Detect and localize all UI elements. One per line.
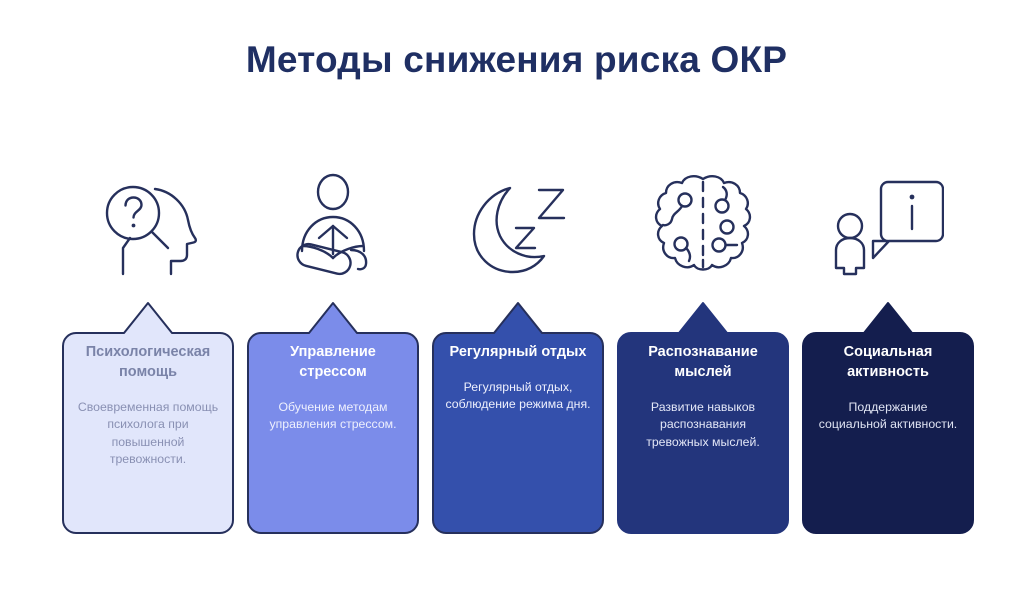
- card-title: Социальная активность: [814, 342, 962, 382]
- card-title: Распознавание мыслей: [629, 342, 777, 382]
- card-stress-management[interactable]: Управление стрессом Обучение методам упр…: [247, 300, 419, 536]
- brain-circuit-icon: [617, 160, 789, 288]
- card-social-activity[interactable]: Социальная активность Поддержание социал…: [802, 300, 974, 536]
- card-description: Развитие навыков распознавания тревожных…: [629, 399, 777, 451]
- card-description: Обучение методам управления стрессом.: [259, 399, 407, 434]
- method-column-psychological-help: Психологическая помощь Своевременная пом…: [62, 160, 234, 536]
- card-regular-rest[interactable]: Регулярный отдых Регулярный отдых, соблю…: [432, 300, 604, 536]
- page-title: Методы снижения риска ОКР: [0, 40, 1033, 81]
- card-description: Своевременная помощь психолога при повыш…: [74, 399, 222, 469]
- method-columns: Психологическая помощь Своевременная пом…: [62, 160, 974, 560]
- moon-sleep-icon: [432, 160, 604, 288]
- method-column-stress-management: Управление стрессом Обучение методам упр…: [247, 160, 419, 536]
- infographic-canvas: Методы снижения риска ОКР: [0, 0, 1033, 596]
- method-column-regular-rest: Регулярный отдых Регулярный отдых, соблю…: [432, 160, 604, 536]
- card-title: Управление стрессом: [259, 342, 407, 382]
- card-thought-recognition[interactable]: Распознавание мыслей Развитие навыков ра…: [617, 300, 789, 536]
- card-psychological-help[interactable]: Психологическая помощь Своевременная пом…: [62, 300, 234, 536]
- method-column-social-activity: Социальная активность Поддержание социал…: [802, 160, 974, 536]
- card-description: Поддержание социальной активности.: [814, 399, 962, 434]
- card-description: Регулярный отдых, соблюдение режима дня.: [444, 379, 592, 414]
- meditating-person-icon: [247, 160, 419, 288]
- method-column-thought-recognition: Распознавание мыслей Развитие навыков ра…: [617, 160, 789, 536]
- card-title: Регулярный отдых: [450, 342, 587, 362]
- card-title: Психологическая помощь: [74, 342, 222, 382]
- person-info-bubble-icon: [802, 160, 974, 288]
- head-question-magnifier-icon: [62, 160, 234, 288]
